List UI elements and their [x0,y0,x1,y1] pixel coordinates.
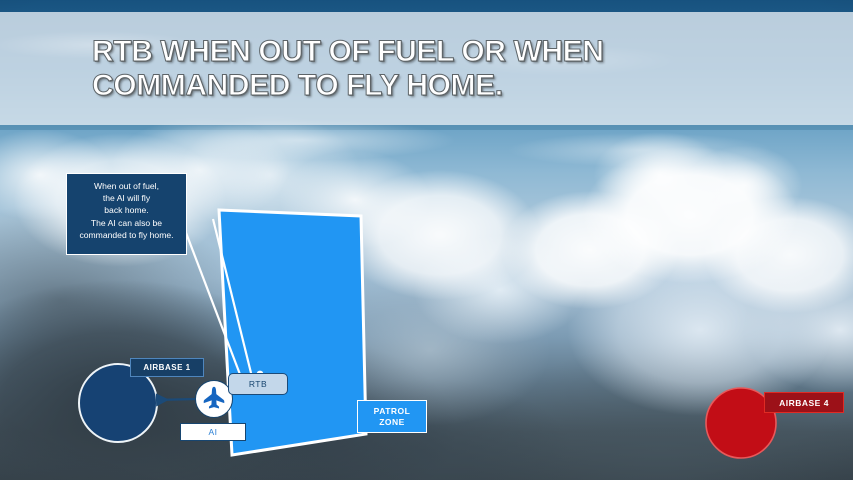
patrol-zone-label-line1: PATROL [374,406,411,417]
rtb-label: RTB [228,373,288,395]
airbase-1-label: AIRBASE 1 [130,358,204,377]
slide-canvas: RTB when out of fuel or when commanded t… [0,0,853,480]
callout-textbox: When out of fuel, the AI will fly back h… [66,173,187,255]
airbase-4-label: AIRBASE 4 [764,392,844,413]
page-title: RTB when out of fuel or when commanded t… [92,35,604,102]
title-banner: RTB when out of fuel or when commanded t… [0,12,853,125]
return-path-arrow [156,399,196,400]
ai-label: AI [180,423,246,441]
patrol-zone-label-line2: ZONE [379,417,405,428]
patrol-zone-label: PATROL ZONE [357,400,427,433]
